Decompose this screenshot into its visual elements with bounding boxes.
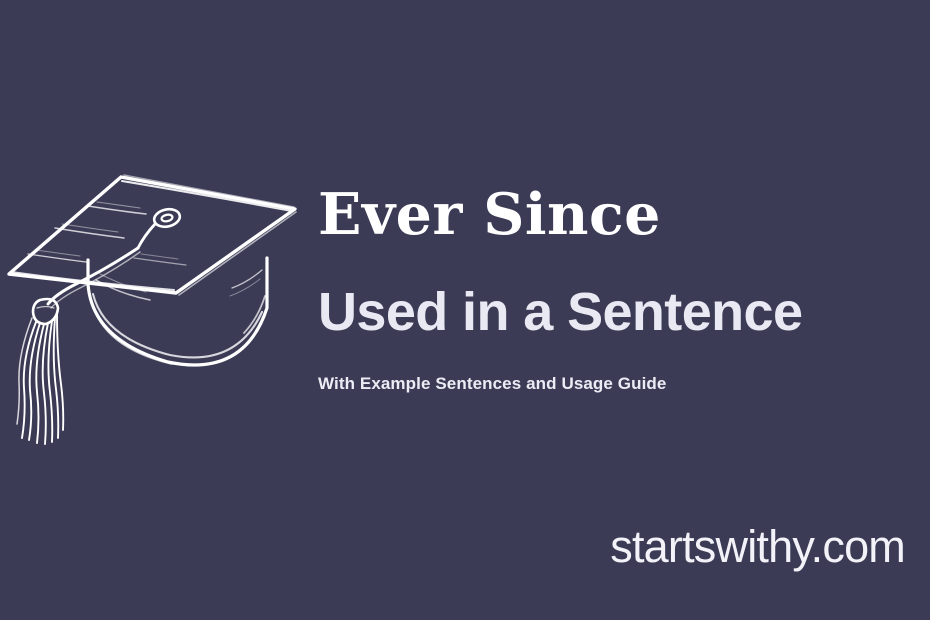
poster-canvas: Ever Since Used in a Sentence With Examp… <box>0 0 930 620</box>
tagline-text: With Example Sentences and Usage Guide <box>318 374 918 394</box>
tassel-strands <box>17 313 63 444</box>
graduation-cap-illustration <box>0 162 310 462</box>
brand-wordmark: startswithy.com <box>610 524 905 569</box>
cap-body <box>88 258 268 365</box>
page-title-term: Ever Since <box>318 186 918 243</box>
page-title-subtitle: Used in a Sentence <box>318 285 918 339</box>
headline-block: Ever Since Used in a Sentence With Examp… <box>318 186 918 394</box>
